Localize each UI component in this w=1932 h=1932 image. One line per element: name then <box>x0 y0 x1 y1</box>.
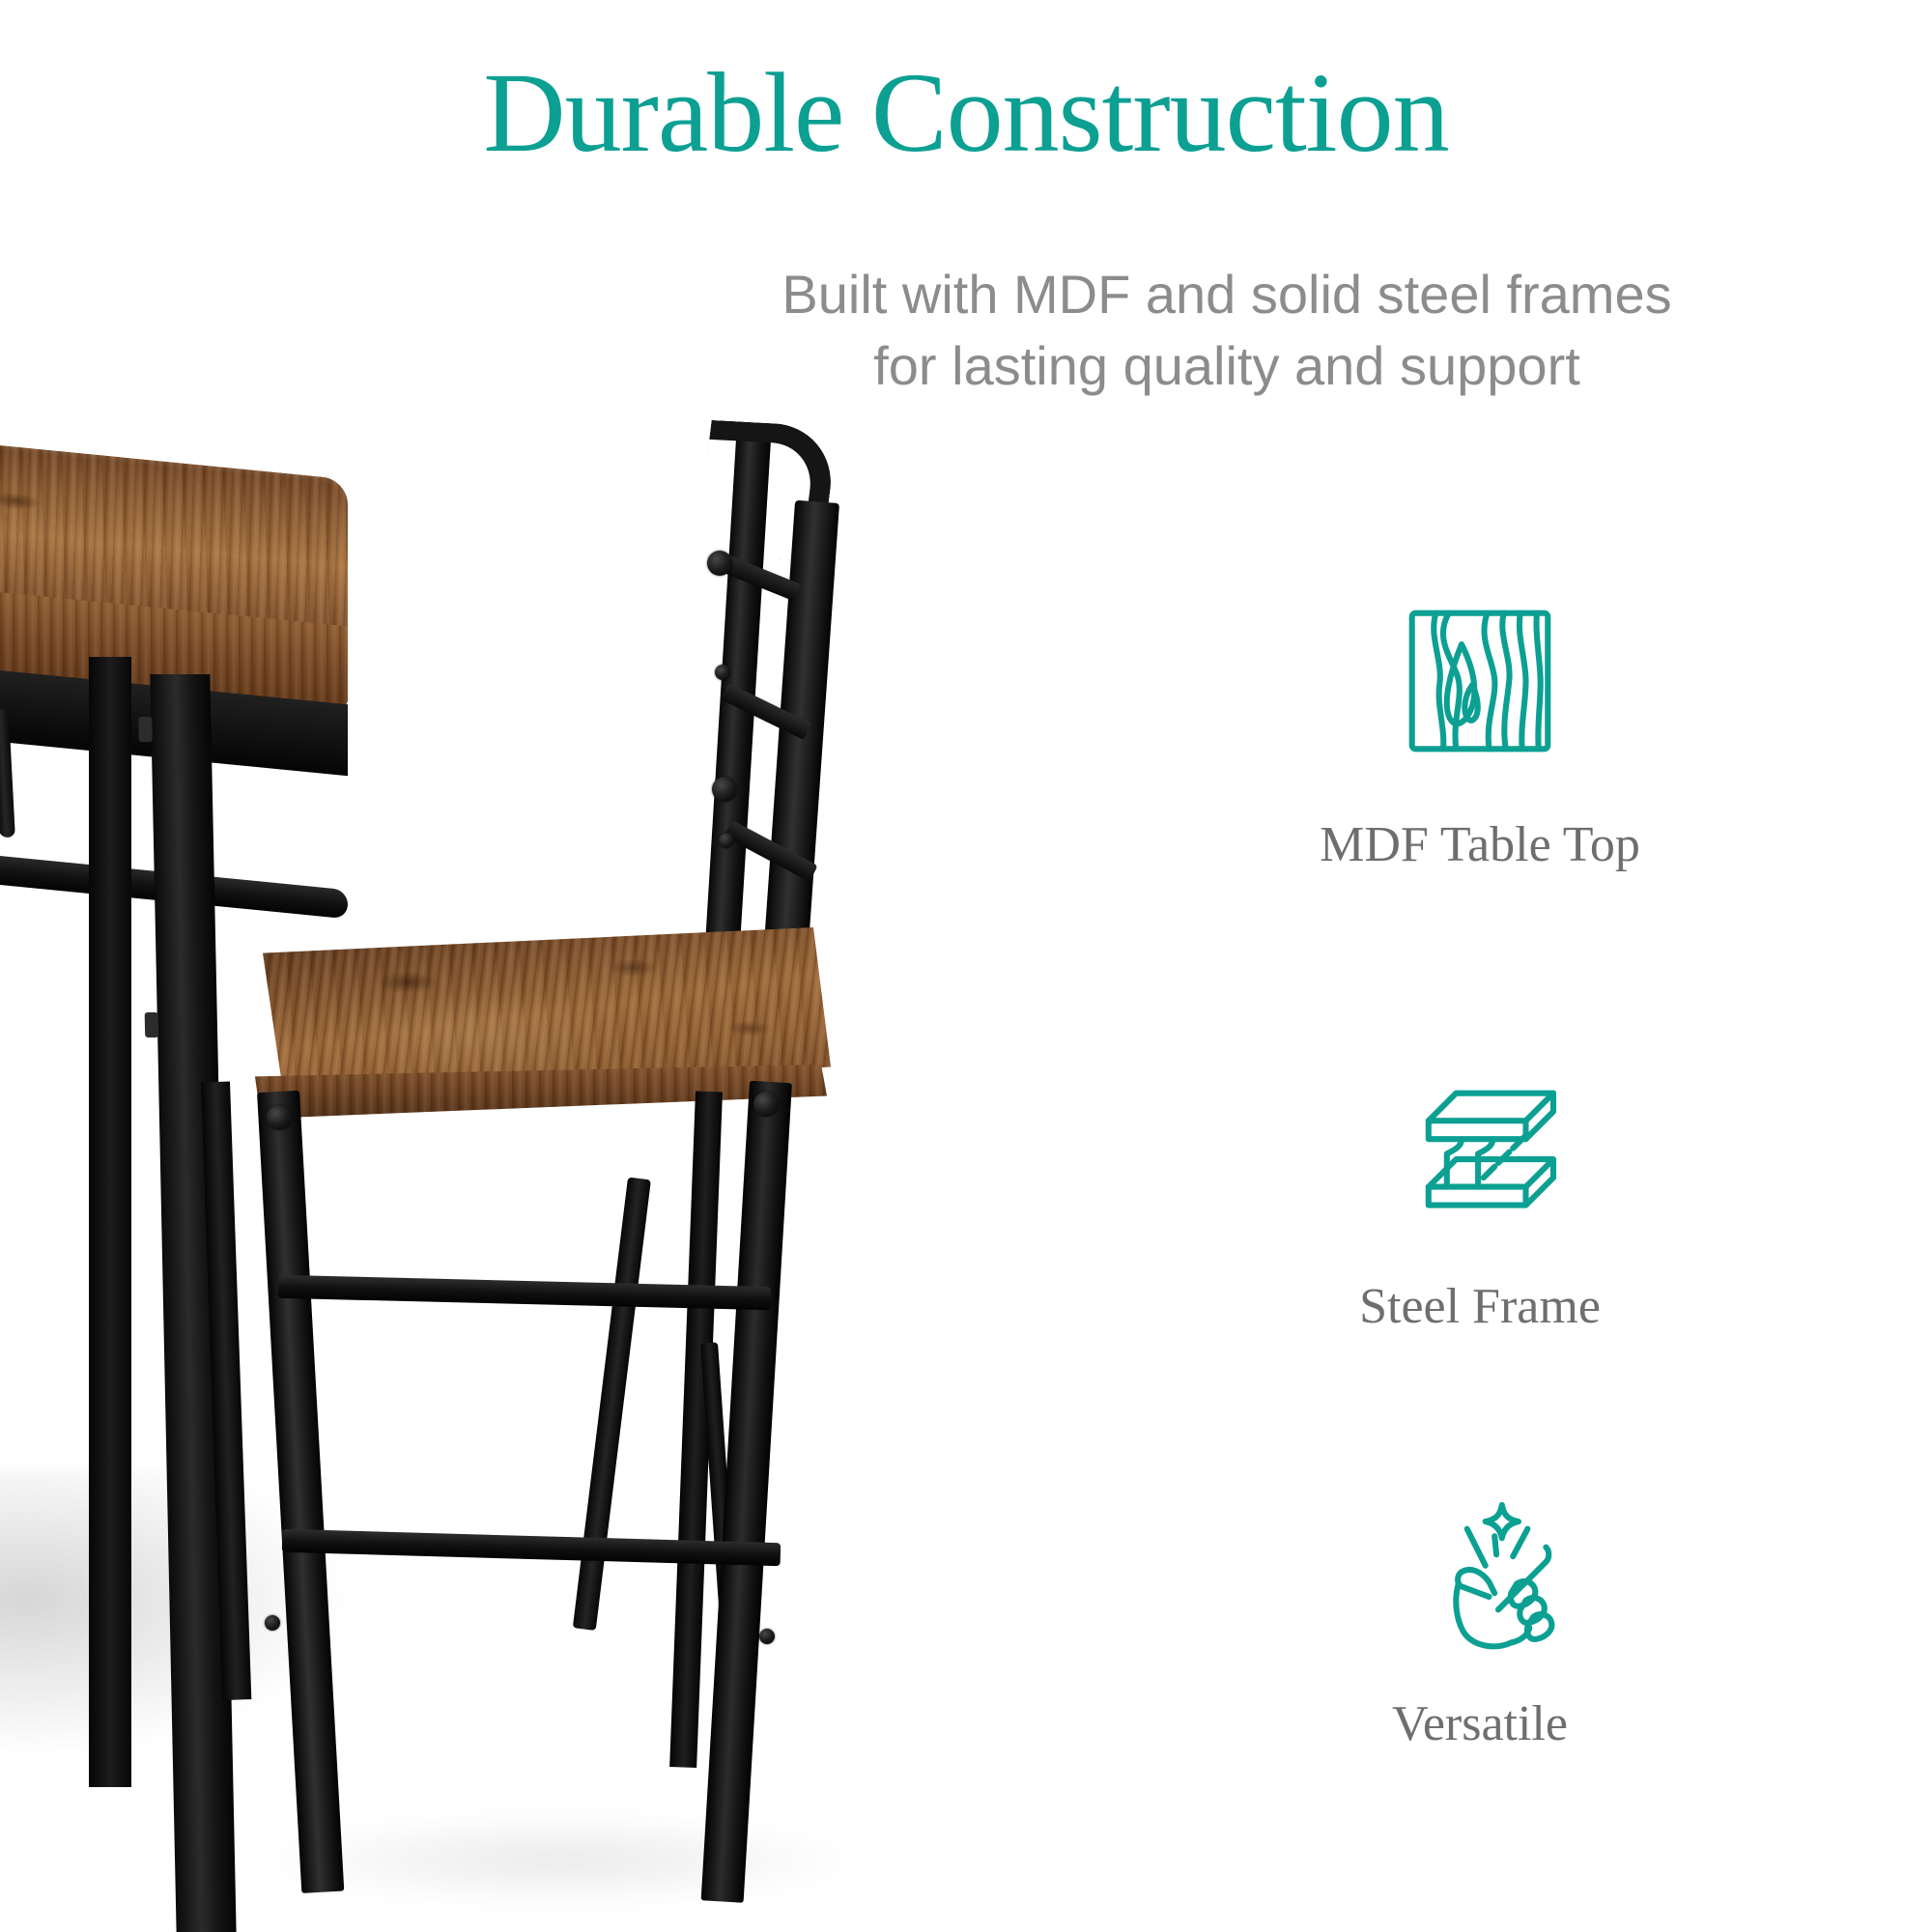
chair-side-stretcher <box>282 1529 781 1566</box>
dining-chair <box>174 415 1092 1922</box>
table-leg-bracket <box>138 717 153 742</box>
page-title: Durable Construction <box>0 56 1932 170</box>
chair-seat-bolt <box>267 1105 292 1130</box>
infographic-canvas: Durable Construction Built with MDF and … <box>0 0 1932 1932</box>
chair-leg-front-near <box>257 1091 344 1893</box>
chair-leg-bolt <box>265 1615 280 1631</box>
chair-leg-bolt <box>759 1629 775 1644</box>
chair-brace-diagonal <box>573 1178 651 1631</box>
feature-steel-frame: Steel Frame <box>1277 1032 1683 1334</box>
feature-label: MDF Table Top <box>1277 817 1683 872</box>
feature-versatile: Versatile <box>1277 1449 1683 1751</box>
page-subtitle-line-2: for lasting quality and support <box>618 330 1835 402</box>
table-leg-bracket <box>145 1012 159 1037</box>
table-leg-rear <box>89 657 131 1787</box>
i-beam-icon <box>1277 1032 1683 1254</box>
chair-back-bolt <box>707 551 732 576</box>
feature-label: Steel Frame <box>1277 1279 1683 1334</box>
chair-back-bolt <box>712 777 737 802</box>
feature-mdf-table-top: MDF Table Top <box>1277 570 1683 872</box>
chair-back-bolt <box>715 665 730 680</box>
wood-grain-icon <box>1277 570 1683 792</box>
snapping-fingers-sparkle-icon <box>1277 1449 1683 1671</box>
chair-back-bolt <box>719 833 734 848</box>
chair-seat-bolt <box>753 1092 779 1117</box>
page-subtitle-line-1: Built with MDF and solid steel frames <box>618 259 1835 330</box>
chair-leg-front-far <box>201 1081 251 1700</box>
page-subtitle: Built with MDF and solid steel frames fo… <box>618 259 1835 403</box>
feature-label: Versatile <box>1277 1696 1683 1751</box>
